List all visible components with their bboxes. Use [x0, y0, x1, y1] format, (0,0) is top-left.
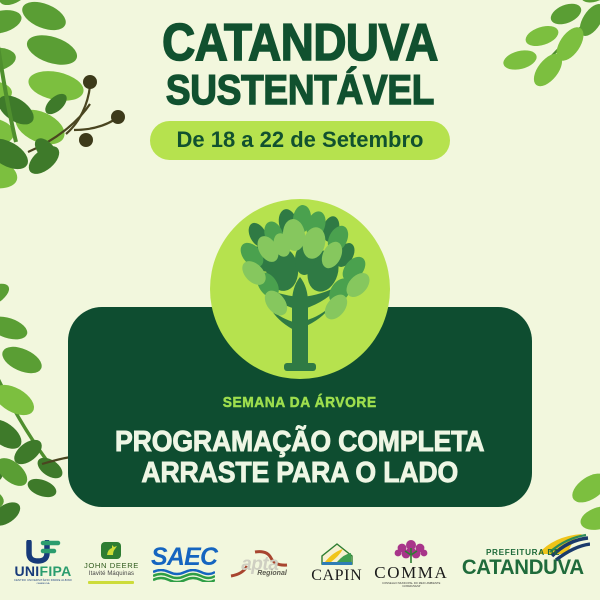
logo-unifipa[interactable]: UNIFIPA CENTRO UNIVERSITÁRIO PADRE ALBIN… [14, 540, 72, 586]
cta-line-1: PROGRAMAÇÃO COMPLETA [115, 426, 484, 458]
unifipa-wordmark: UNIFIPA [14, 564, 71, 578]
logo-comma[interactable]: COMMA CONSELHO MUNICIPAL DO MEIO AMBIENT… [374, 538, 448, 589]
capin-mark-icon [317, 542, 357, 568]
unifipa-subtitle: CENTRO UNIVERSITÁRIO PADRE ALBINO [14, 579, 72, 582]
title-line-catanduva: CATANDUVA [36, 18, 564, 68]
capin-wordmark: CAPIN [311, 568, 362, 584]
logo-apta[interactable]: apta Regional [229, 540, 299, 586]
card-cta-text: PROGRAMAÇÃO COMPLETA ARRASTE PARA O LADO [115, 427, 484, 489]
poster-title-block: CATANDUVA SUSTENTÁVEL De 18 a 22 de Sete… [0, 18, 600, 160]
cta-line-2: ARRASTE PARA O LADO [142, 457, 459, 489]
deer-icon [101, 542, 121, 559]
john-deere-dealer: Itavité Máquinas [89, 570, 134, 578]
title-line-sustentavel: SUSTENTÁVEL [36, 68, 564, 112]
prefeitura-city-label: CATANDUVA [462, 557, 584, 578]
card-eyebrow-label: SEMANA DA ÁRVORE [223, 394, 377, 411]
saec-wordmark: SAEC [151, 545, 217, 569]
john-deere-wordmark: JOHN DEERE [84, 561, 139, 570]
sponsor-logo-bar: UNIFIPA CENTRO UNIVERSITÁRIO PADRE ALBIN… [0, 526, 600, 600]
poster-canvas: CATANDUVA SUSTENTÁVEL De 18 a 22 de Sete… [0, 0, 600, 600]
logo-john-deere[interactable]: JOHN DEERE Itavité Máquinas [84, 542, 139, 584]
john-deere-bar [88, 581, 134, 584]
comma-wordmark: COMMA [374, 564, 448, 581]
comma-city: CATANDUVA/SP [402, 585, 420, 588]
comma-tree-icon [394, 538, 428, 564]
logo-prefeitura-catanduva[interactable]: PREFEITURA DE CATANDUVA [460, 548, 586, 578]
tree-icon [210, 199, 390, 379]
unifipa-city: CATANDUVA [37, 583, 50, 586]
unifipa-mark-icon [25, 540, 61, 564]
logo-saec[interactable]: SAEC [151, 545, 217, 582]
date-badge: De 18 a 22 de Setembro [150, 121, 449, 160]
saec-waves-icon [153, 569, 215, 582]
logo-capin[interactable]: CAPIN [311, 542, 362, 584]
apta-subtitle: Regional [257, 570, 287, 578]
tree-medallion [210, 199, 390, 379]
